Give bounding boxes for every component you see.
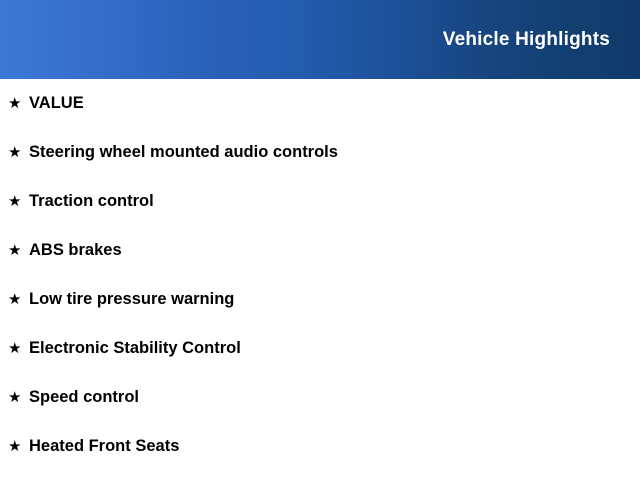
list-item: ★ VALUE bbox=[0, 79, 640, 128]
vehicle-highlights-page: Vehicle Highlights ★ VALUE ★ Steering wh… bbox=[0, 0, 640, 480]
list-item: ★ Heated Front Seats bbox=[0, 422, 640, 471]
list-item: ★ ABS brakes bbox=[0, 226, 640, 275]
highlight-label: ABS brakes bbox=[29, 241, 122, 259]
star-icon: ★ bbox=[8, 145, 29, 160]
highlight-label: Heated Front Seats bbox=[29, 437, 179, 455]
star-icon: ★ bbox=[8, 390, 29, 405]
star-icon: ★ bbox=[8, 96, 29, 111]
list-item: ★ Speed control bbox=[0, 373, 640, 422]
star-icon: ★ bbox=[8, 194, 29, 209]
vehicle-highlights-list: ★ VALUE ★ Steering wheel mounted audio c… bbox=[0, 79, 640, 471]
star-icon: ★ bbox=[8, 292, 29, 307]
highlight-label: Speed control bbox=[29, 388, 139, 406]
list-item: ★ Traction control bbox=[0, 177, 640, 226]
header-bar: Vehicle Highlights bbox=[0, 0, 640, 79]
star-icon: ★ bbox=[8, 439, 29, 454]
list-item: ★ Low tire pressure warning bbox=[0, 275, 640, 324]
star-icon: ★ bbox=[8, 243, 29, 258]
highlight-label: Electronic Stability Control bbox=[29, 339, 241, 357]
highlight-label: Traction control bbox=[29, 192, 154, 210]
highlight-label: Low tire pressure warning bbox=[29, 290, 234, 308]
list-item: ★ Electronic Stability Control bbox=[0, 324, 640, 373]
highlight-label: Steering wheel mounted audio controls bbox=[29, 143, 338, 161]
list-item: ★ Steering wheel mounted audio controls bbox=[0, 128, 640, 177]
page-title: Vehicle Highlights bbox=[443, 30, 610, 49]
star-icon: ★ bbox=[8, 341, 29, 356]
highlight-label: VALUE bbox=[29, 94, 84, 112]
